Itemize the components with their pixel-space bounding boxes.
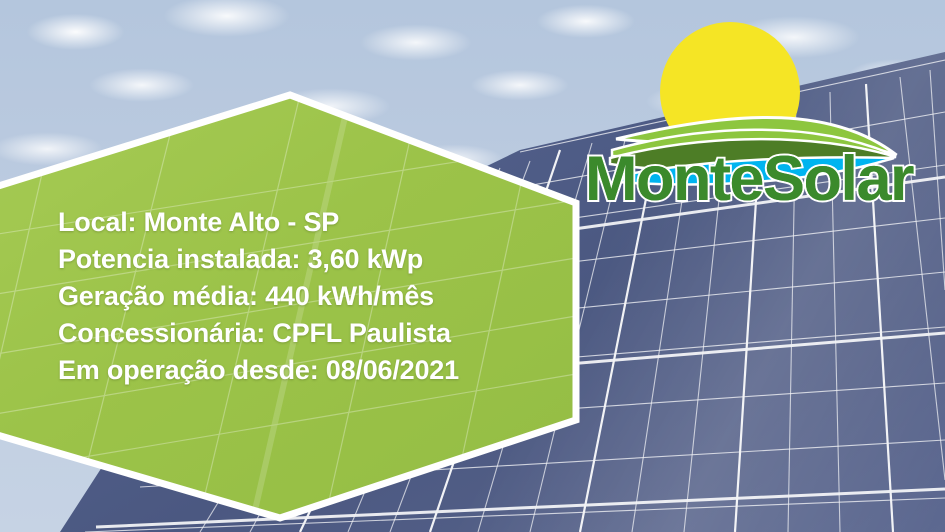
logo-wordmark: MonteSolar xyxy=(585,143,913,215)
detail-line-potencia: Potencia instalada: 3,60 kWp xyxy=(58,241,578,278)
detail-line-local: Local: Monte Alto - SP xyxy=(58,204,578,241)
detail-line-geracao: Geração média: 440 kWh/mês xyxy=(58,278,578,315)
installation-details: Local: Monte Alto - SP Potencia instalad… xyxy=(58,204,578,389)
promo-card: Local: Monte Alto - SP Potencia instalad… xyxy=(0,0,945,532)
detail-line-concessionaria: Concessionária: CPFL Paulista xyxy=(58,315,578,352)
detail-line-operacao: Em operação desde: 08/06/2021 xyxy=(58,352,578,389)
